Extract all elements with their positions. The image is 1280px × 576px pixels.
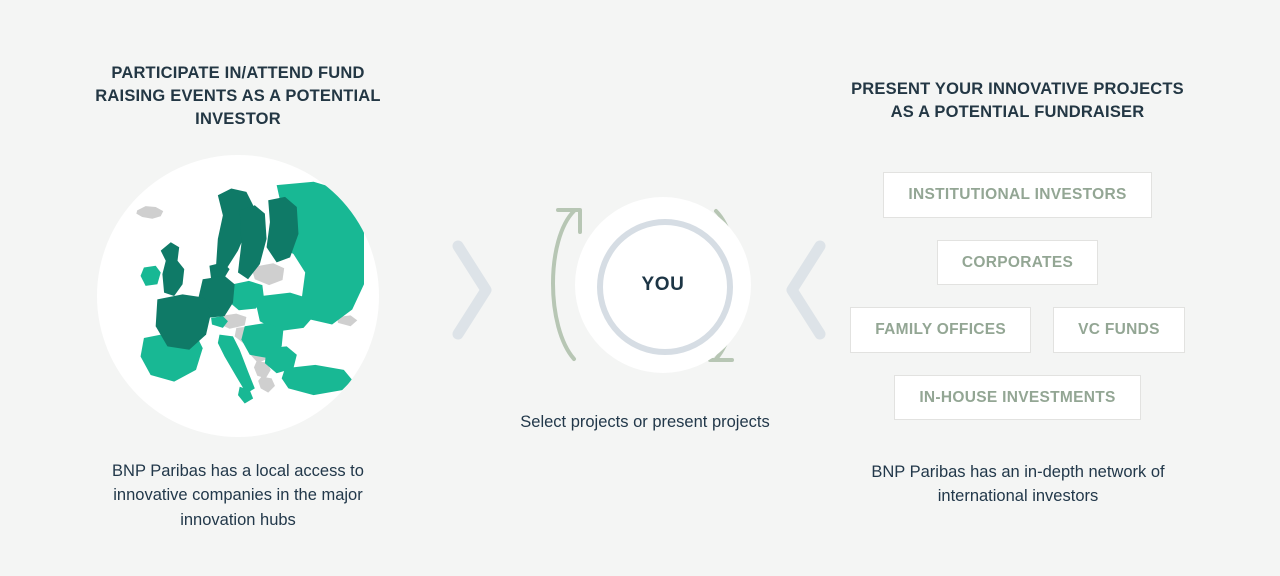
right-caption: BNP Paribas has an in-depth network of i… bbox=[838, 460, 1198, 509]
right-heading: PRESENT YOUR INNOVATIVE PROJECTS AS A PO… bbox=[845, 78, 1190, 124]
europe-map-svg bbox=[112, 170, 364, 422]
you-cycle: YOU bbox=[528, 185, 762, 385]
map-disc bbox=[97, 155, 379, 437]
left-caption: BNP Paribas has a local access to innova… bbox=[82, 459, 394, 532]
pill-family-offices[interactable]: FAMILY OFFICES bbox=[850, 307, 1031, 353]
pill-row: CORPORATES bbox=[845, 240, 1190, 286]
chevron-left-icon bbox=[782, 238, 828, 347]
europe-map-graphic bbox=[97, 155, 379, 437]
pill-institutional-investors[interactable]: INSTITUTIONAL INVESTORS bbox=[883, 172, 1151, 218]
pill-row: FAMILY OFFICES VC FUNDS bbox=[845, 307, 1190, 353]
left-heading: PARTICIPATE IN/ATTEND FUND RAISING EVENT… bbox=[62, 62, 414, 130]
center-caption: Select projects or present projects bbox=[515, 410, 775, 434]
pill-row: INSTITUTIONAL INVESTORS bbox=[845, 172, 1190, 218]
pill-row: IN-HOUSE INVESTMENTS bbox=[845, 375, 1190, 421]
you-label: YOU bbox=[575, 197, 751, 373]
chevron-right-icon bbox=[450, 238, 496, 347]
infographic-stage: PARTICIPATE IN/ATTEND FUND RAISING EVENT… bbox=[0, 0, 1280, 576]
pill-corporates[interactable]: CORPORATES bbox=[937, 240, 1098, 286]
right-column: PRESENT YOUR INNOVATIVE PROJECTS AS A PO… bbox=[845, 78, 1190, 124]
pill-vc-funds[interactable]: VC FUNDS bbox=[1053, 307, 1185, 353]
you-disc: YOU bbox=[575, 197, 751, 373]
pill-in-house-investments[interactable]: IN-HOUSE INVESTMENTS bbox=[894, 375, 1140, 421]
investor-type-list: INSTITUTIONAL INVESTORS CORPORATES FAMIL… bbox=[845, 172, 1190, 442]
left-column: PARTICIPATE IN/ATTEND FUND RAISING EVENT… bbox=[62, 62, 414, 130]
